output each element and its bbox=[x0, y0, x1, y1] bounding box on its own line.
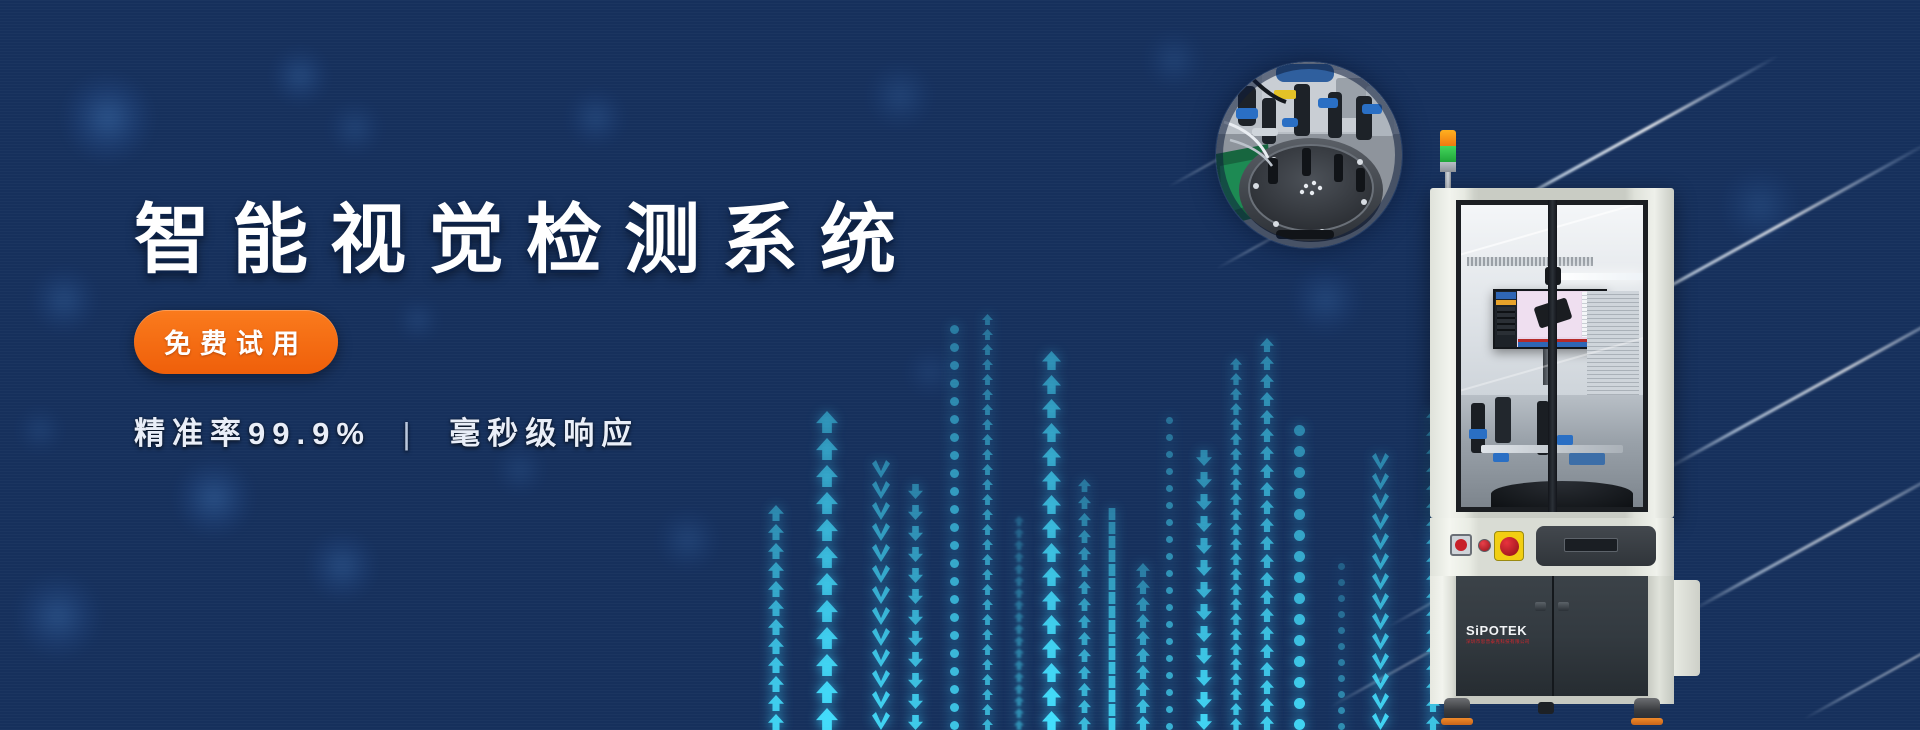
arrow-glyph bbox=[1106, 578, 1118, 590]
arrow-glyph bbox=[1260, 536, 1274, 550]
arrow-glyph bbox=[1166, 468, 1173, 475]
arrow-glyph bbox=[1078, 513, 1091, 526]
arrow-glyph bbox=[816, 519, 838, 541]
arrow-glyph bbox=[1230, 478, 1242, 490]
arrow-glyph bbox=[1230, 718, 1242, 730]
bokeh-spot bbox=[62, 72, 154, 164]
arrow-glyph bbox=[1338, 707, 1345, 714]
arrow-glyph bbox=[950, 487, 959, 496]
arrow-glyph bbox=[1372, 673, 1389, 690]
arrow-glyph bbox=[908, 526, 923, 541]
arrow-glyph bbox=[908, 568, 923, 583]
arrow-glyph bbox=[1196, 538, 1212, 554]
arrow-glyph bbox=[1372, 553, 1389, 570]
arrow-glyph bbox=[1166, 672, 1173, 679]
arrow-glyph bbox=[1294, 509, 1305, 520]
arrow-glyph bbox=[1260, 698, 1274, 712]
stack-light-base bbox=[1440, 162, 1456, 172]
arrow-glyph bbox=[1294, 614, 1305, 625]
response-text: 毫秒级响应 bbox=[449, 416, 639, 451]
hero-subline: 精准率99.9% | 毫秒级响应 bbox=[134, 408, 1034, 453]
arrow-glyph bbox=[1042, 447, 1061, 466]
arrow-glyph bbox=[1166, 621, 1173, 628]
free-trial-button[interactable]: 免费试用 bbox=[134, 310, 338, 374]
arrow-glyph bbox=[1136, 699, 1150, 713]
machine-control-panel bbox=[1430, 518, 1674, 576]
arrow-glyph bbox=[1106, 634, 1118, 646]
arrow-glyph bbox=[1230, 658, 1242, 670]
arrow-glyph bbox=[816, 492, 838, 514]
bokeh-spot bbox=[327, 100, 383, 156]
arrow-glyph bbox=[1042, 711, 1061, 730]
arrow-glyph bbox=[1196, 626, 1212, 642]
arrow-glyph bbox=[1042, 471, 1061, 490]
emergency-stop-button[interactable] bbox=[1494, 531, 1524, 561]
arrow-glyph bbox=[982, 569, 993, 580]
arrow-glyph bbox=[1196, 560, 1212, 576]
subline-divider: | bbox=[403, 416, 418, 452]
arrow-glyph bbox=[768, 676, 784, 692]
arrow-glyph bbox=[1260, 482, 1274, 496]
arrow-glyph bbox=[1260, 644, 1274, 658]
panel-slot bbox=[1564, 538, 1618, 552]
selector-switch-housing[interactable] bbox=[1450, 534, 1472, 556]
arrow-glyph bbox=[1372, 693, 1389, 710]
arrow-glyph bbox=[1260, 374, 1274, 388]
arrow-glyph bbox=[908, 547, 923, 562]
arrow-glyph bbox=[1294, 488, 1305, 499]
arrow-glyph bbox=[1042, 375, 1061, 394]
arrow-glyph bbox=[982, 644, 993, 655]
arrow-glyph bbox=[1166, 502, 1173, 509]
bokeh-spot bbox=[1290, 264, 1362, 336]
arrow-glyph bbox=[950, 631, 959, 640]
emergency-stop-mushroom[interactable] bbox=[1500, 537, 1519, 556]
arrow-beam-column bbox=[1230, 350, 1242, 730]
arrow-glyph bbox=[1078, 581, 1091, 594]
arrow-glyph bbox=[1106, 718, 1118, 730]
bokeh-spot bbox=[16, 406, 64, 454]
arrow-glyph bbox=[1014, 564, 1024, 574]
arrow-glyph bbox=[1196, 714, 1212, 730]
arrow-glyph bbox=[768, 714, 784, 730]
stack-light bbox=[1440, 130, 1456, 188]
arrow-glyph bbox=[1106, 508, 1118, 520]
arrow-glyph bbox=[1260, 410, 1274, 424]
arrow-glyph bbox=[872, 628, 890, 646]
arrow-glyph bbox=[1338, 675, 1345, 682]
arrow-glyph bbox=[1230, 358, 1242, 370]
arrow-beam-column bbox=[1136, 550, 1150, 730]
arrow-glyph bbox=[1014, 708, 1024, 718]
arrow-glyph bbox=[1338, 611, 1345, 618]
light-streak bbox=[1803, 607, 1920, 721]
arrow-glyph bbox=[982, 539, 993, 550]
arrow-glyph bbox=[1260, 446, 1274, 460]
arrow-glyph bbox=[1136, 631, 1150, 645]
brand-logo: SiPOTEK 深圳市思普泰克科技有限公司 bbox=[1466, 624, 1530, 645]
bokeh-spot bbox=[14, 572, 102, 660]
arrow-glyph bbox=[950, 577, 959, 586]
arrow-glyph bbox=[1230, 583, 1242, 595]
arrow-glyph bbox=[1260, 590, 1274, 604]
arrow-beam-column bbox=[1338, 550, 1345, 730]
arrow-glyph bbox=[908, 589, 923, 604]
arrow-glyph bbox=[768, 581, 784, 597]
light-streak bbox=[1689, 450, 1920, 612]
arrow-glyph bbox=[1042, 399, 1061, 418]
arrow-glyph bbox=[768, 638, 784, 654]
arrow-glyph bbox=[1014, 636, 1024, 646]
arrow-glyph bbox=[1106, 690, 1118, 702]
arrow-glyph bbox=[872, 502, 890, 520]
arrow-glyph bbox=[816, 465, 838, 487]
arrow-glyph bbox=[1166, 689, 1173, 696]
arrow-glyph bbox=[1372, 713, 1389, 730]
arrow-glyph bbox=[1372, 513, 1389, 530]
arrow-glyph bbox=[1230, 553, 1242, 565]
arrow-glyph bbox=[1106, 536, 1118, 548]
arrow-glyph bbox=[1196, 604, 1212, 620]
arrow-glyph bbox=[1294, 425, 1305, 436]
arrow-glyph bbox=[1042, 591, 1061, 610]
arrow-glyph bbox=[982, 524, 993, 535]
arrow-glyph bbox=[1078, 683, 1091, 696]
arrow-glyph bbox=[1372, 633, 1389, 650]
brand-logo-text: SiPOTEK bbox=[1466, 624, 1530, 637]
arrow-glyph bbox=[1166, 570, 1173, 577]
arrow-glyph bbox=[1042, 543, 1061, 562]
arrow-glyph bbox=[1294, 593, 1305, 604]
arrow-glyph bbox=[1338, 723, 1345, 730]
arrow-glyph bbox=[1338, 627, 1345, 634]
arrow-glyph bbox=[1196, 472, 1212, 488]
arrow-glyph bbox=[1260, 554, 1274, 568]
reset-button[interactable] bbox=[1478, 539, 1491, 552]
arrow-glyph bbox=[950, 703, 959, 712]
arrow-beam-column bbox=[1166, 400, 1173, 730]
arrow-glyph bbox=[1014, 720, 1024, 730]
arrow-glyph bbox=[1014, 540, 1024, 550]
arrow-glyph bbox=[1230, 673, 1242, 685]
cabinet-doors[interactable]: SiPOTEK 深圳市思普泰克科技有限公司 bbox=[1456, 576, 1648, 696]
arrow-glyph bbox=[816, 708, 838, 730]
bokeh-spot bbox=[1144, 30, 1204, 90]
arrow-glyph bbox=[1078, 666, 1091, 679]
arrow-glyph bbox=[1014, 648, 1024, 658]
arrow-glyph bbox=[982, 494, 993, 505]
arrow-glyph bbox=[1106, 564, 1118, 576]
arrow-glyph bbox=[1338, 643, 1345, 650]
arrow-glyph bbox=[816, 546, 838, 568]
arrow-glyph bbox=[1106, 662, 1118, 674]
arrow-glyph bbox=[1106, 592, 1118, 604]
arrow-glyph bbox=[1136, 716, 1150, 730]
arrow-glyph bbox=[1230, 493, 1242, 505]
arrow-glyph bbox=[982, 659, 993, 670]
arrow-glyph bbox=[1042, 687, 1061, 706]
arrow-glyph bbox=[1230, 508, 1242, 520]
arrow-glyph bbox=[1230, 568, 1242, 580]
arrow-beam-column bbox=[908, 470, 923, 730]
valve-blue-3 bbox=[1557, 435, 1573, 445]
arrow-glyph bbox=[982, 719, 993, 730]
arrow-glyph bbox=[1230, 643, 1242, 655]
arrow-glyph bbox=[1166, 417, 1173, 424]
arrow-glyph bbox=[950, 541, 959, 550]
arrow-glyph bbox=[950, 649, 959, 658]
arrow-glyph bbox=[1042, 519, 1061, 538]
arrow-glyph bbox=[1372, 533, 1389, 550]
arrow-glyph bbox=[1294, 530, 1305, 541]
arrow-glyph bbox=[1338, 595, 1345, 602]
arrow-glyph bbox=[1260, 662, 1274, 676]
arrow-glyph bbox=[1014, 660, 1024, 670]
arrow-glyph bbox=[982, 464, 993, 475]
arrow-glyph bbox=[1230, 523, 1242, 535]
arrow-beam-column bbox=[1196, 430, 1212, 730]
arrow-glyph bbox=[1230, 388, 1242, 400]
arrow-glyph bbox=[982, 614, 993, 625]
arrow-glyph bbox=[1260, 428, 1274, 442]
arrow-glyph bbox=[908, 673, 923, 688]
arrow-glyph bbox=[1196, 516, 1212, 532]
arrow-glyph bbox=[1260, 392, 1274, 406]
arrow-glyph bbox=[1014, 528, 1024, 538]
hero-banner: 智能视觉检测系统 免费试用 精准率99.9% | 毫秒级响应 bbox=[0, 0, 1920, 730]
bokeh-spot bbox=[306, 530, 378, 602]
arrow-glyph bbox=[1042, 495, 1061, 514]
arrow-glyph bbox=[1166, 519, 1173, 526]
arrow-glyph bbox=[1230, 628, 1242, 640]
hero-copy: 智能视觉检测系统 免费试用 精准率99.9% | 毫秒级响应 bbox=[134, 196, 1034, 453]
arrow-glyph bbox=[872, 649, 890, 667]
machine-upper-enclosure bbox=[1430, 188, 1674, 518]
arrow-glyph bbox=[950, 595, 959, 604]
arrow-glyph bbox=[1230, 403, 1242, 415]
arrow-glyph bbox=[1260, 626, 1274, 640]
arrow-glyph bbox=[1078, 700, 1091, 713]
arrow-beam-column bbox=[872, 440, 890, 730]
arrow-beam-column bbox=[1372, 440, 1389, 730]
arrow-glyph bbox=[872, 691, 890, 709]
arrow-glyph bbox=[1078, 530, 1091, 543]
monitor-menu-list bbox=[1497, 307, 1515, 335]
arrow-glyph bbox=[1136, 682, 1150, 696]
inset-photo-rotary-inspection bbox=[1216, 62, 1402, 248]
machine-lower-cabinet: SiPOTEK 深圳市思普泰克科技有限公司 bbox=[1430, 576, 1674, 704]
arrow-glyph bbox=[768, 524, 784, 540]
arrow-glyph bbox=[1294, 572, 1305, 583]
arrow-glyph bbox=[768, 543, 784, 559]
arrow-glyph bbox=[982, 599, 993, 610]
arrow-glyph bbox=[1196, 692, 1212, 708]
arrow-glyph bbox=[1230, 703, 1242, 715]
arrow-glyph bbox=[950, 505, 959, 514]
light-streak bbox=[1661, 286, 1920, 473]
arrow-glyph bbox=[982, 629, 993, 640]
arrow-glyph bbox=[1338, 563, 1345, 570]
arrow-glyph bbox=[1230, 688, 1242, 700]
arrow-glyph bbox=[872, 523, 890, 541]
arrow-glyph bbox=[1078, 496, 1091, 509]
arrow-glyph bbox=[1166, 553, 1173, 560]
arrow-glyph bbox=[1260, 518, 1274, 532]
arrow-glyph bbox=[908, 715, 923, 730]
arrow-glyph bbox=[872, 544, 890, 562]
arrow-glyph bbox=[950, 667, 959, 676]
arrow-glyph bbox=[1014, 552, 1024, 562]
fixture-blue bbox=[1569, 453, 1605, 465]
arrow-glyph bbox=[872, 607, 890, 625]
bokeh-spot bbox=[30, 266, 98, 334]
arrow-glyph bbox=[1136, 580, 1150, 594]
arrow-glyph bbox=[768, 619, 784, 635]
arrow-glyph bbox=[1294, 719, 1305, 730]
arrow-glyph bbox=[768, 562, 784, 578]
arrow-glyph bbox=[1260, 572, 1274, 586]
arrow-glyph bbox=[982, 704, 993, 715]
arrow-glyph bbox=[816, 573, 838, 595]
bokeh-spot bbox=[656, 508, 720, 572]
selector-switch-knob[interactable] bbox=[1455, 539, 1467, 551]
arrow-glyph bbox=[908, 652, 923, 667]
arrow-glyph bbox=[1294, 635, 1305, 646]
arrow-beam-column bbox=[1014, 510, 1024, 730]
stack-light-amber bbox=[1440, 130, 1456, 146]
arrow-glyph bbox=[1042, 423, 1061, 442]
arrow-glyph bbox=[1260, 680, 1274, 694]
inspection-machine: SiPOTEK 深圳市思普泰克科技有限公司 bbox=[1430, 188, 1674, 704]
panel-tray bbox=[1536, 526, 1656, 566]
arrow-glyph bbox=[1372, 573, 1389, 590]
arrow-glyph bbox=[1372, 473, 1389, 490]
arrow-glyph bbox=[908, 610, 923, 625]
valve-blue-1 bbox=[1469, 429, 1487, 439]
arrow-beam-column bbox=[1294, 400, 1305, 730]
arrow-glyph bbox=[1260, 356, 1274, 370]
arrow-glyph bbox=[1338, 579, 1345, 586]
arrow-glyph bbox=[950, 559, 959, 568]
arrow-glyph bbox=[1078, 615, 1091, 628]
arrow-glyph bbox=[1230, 613, 1242, 625]
arrow-glyph bbox=[1106, 620, 1118, 632]
arrow-glyph bbox=[1106, 606, 1118, 618]
arrow-glyph bbox=[1106, 648, 1118, 660]
arrow-glyph bbox=[1294, 467, 1305, 478]
turntable-shadow bbox=[1491, 481, 1633, 507]
arrow-glyph bbox=[1078, 564, 1091, 577]
arrow-glyph bbox=[982, 554, 993, 565]
arrow-glyph bbox=[1014, 588, 1024, 598]
arrow-glyph bbox=[1042, 663, 1061, 682]
arrow-beam-column bbox=[1042, 340, 1061, 730]
arrow-glyph bbox=[1196, 582, 1212, 598]
arrow-glyph bbox=[1014, 624, 1024, 634]
page-title: 智能视觉检测系统 bbox=[134, 196, 1034, 286]
monitor-title-bar bbox=[1496, 292, 1516, 299]
stack-light-green bbox=[1440, 146, 1456, 162]
arrow-glyph bbox=[1014, 600, 1024, 610]
arrow-glyph bbox=[1042, 639, 1061, 658]
arrow-beam-column bbox=[1260, 330, 1274, 730]
arrow-glyph bbox=[816, 681, 838, 703]
leveling-foot-center bbox=[1538, 702, 1554, 714]
leveling-foot-left bbox=[1444, 698, 1470, 720]
arrow-glyph bbox=[1230, 538, 1242, 550]
arrow-glyph bbox=[1260, 500, 1274, 514]
door-handle-left[interactable] bbox=[1535, 602, 1546, 611]
arrow-glyph bbox=[1166, 451, 1173, 458]
bokeh-spot bbox=[566, 88, 626, 148]
leveling-foot-right bbox=[1634, 698, 1660, 720]
arrow-glyph bbox=[872, 460, 890, 478]
arrow-glyph bbox=[950, 613, 959, 622]
arrow-glyph bbox=[1136, 597, 1150, 611]
arrow-beam-column bbox=[768, 490, 784, 730]
arrow-glyph bbox=[1260, 608, 1274, 622]
arrow-glyph bbox=[1230, 373, 1242, 385]
bokeh-spot bbox=[174, 458, 254, 538]
arrow-glyph bbox=[1196, 670, 1212, 686]
monitor-toolbar bbox=[1496, 300, 1516, 305]
accuracy-text: 精准率99.9% bbox=[134, 416, 371, 451]
arrow-glyph bbox=[1338, 659, 1345, 666]
arrow-glyph bbox=[1230, 433, 1242, 445]
actuator-mid bbox=[1495, 397, 1511, 443]
arrow-glyph bbox=[1078, 479, 1091, 492]
bokeh-spot bbox=[270, 46, 330, 106]
arrow-glyph bbox=[1014, 612, 1024, 622]
arrow-glyph bbox=[950, 685, 959, 694]
arrow-glyph bbox=[1166, 706, 1173, 713]
arrow-glyph bbox=[1014, 696, 1024, 706]
arrow-glyph bbox=[982, 689, 993, 700]
arrow-glyph bbox=[982, 479, 993, 490]
arrow-glyph bbox=[1106, 676, 1118, 688]
window-mullion bbox=[1548, 200, 1557, 512]
arrow-glyph bbox=[1078, 649, 1091, 662]
door-handle-right[interactable] bbox=[1558, 602, 1569, 611]
arrow-glyph bbox=[950, 721, 959, 730]
arrow-glyph bbox=[908, 631, 923, 646]
interior-light-bar bbox=[1557, 273, 1643, 280]
arrow-glyph bbox=[1294, 656, 1305, 667]
arrow-glyph bbox=[1230, 448, 1242, 460]
brand-logo-subtext: 深圳市思普泰克科技有限公司 bbox=[1466, 639, 1530, 645]
arrow-glyph bbox=[1372, 653, 1389, 670]
arrow-glyph bbox=[768, 505, 784, 521]
arrow-glyph bbox=[1136, 563, 1150, 577]
arrow-beam-column bbox=[1078, 470, 1091, 730]
arrow-glyph bbox=[1136, 648, 1150, 662]
arrow-glyph bbox=[1166, 485, 1173, 492]
arrow-glyph bbox=[1106, 550, 1118, 562]
arrow-glyph bbox=[908, 694, 923, 709]
arrow-glyph bbox=[816, 627, 838, 649]
arrow-glyph bbox=[1166, 536, 1173, 543]
arrow-glyph bbox=[1166, 434, 1173, 441]
arrow-glyph bbox=[1106, 522, 1118, 534]
arrow-glyph bbox=[950, 523, 959, 532]
arrow-glyph bbox=[1014, 684, 1024, 694]
arrow-glyph bbox=[1078, 547, 1091, 560]
door-seam bbox=[1552, 576, 1554, 696]
arrow-glyph bbox=[1230, 598, 1242, 610]
arrow-glyph bbox=[1196, 494, 1212, 510]
arrow-glyph bbox=[1372, 613, 1389, 630]
arrow-glyph bbox=[1166, 655, 1173, 662]
